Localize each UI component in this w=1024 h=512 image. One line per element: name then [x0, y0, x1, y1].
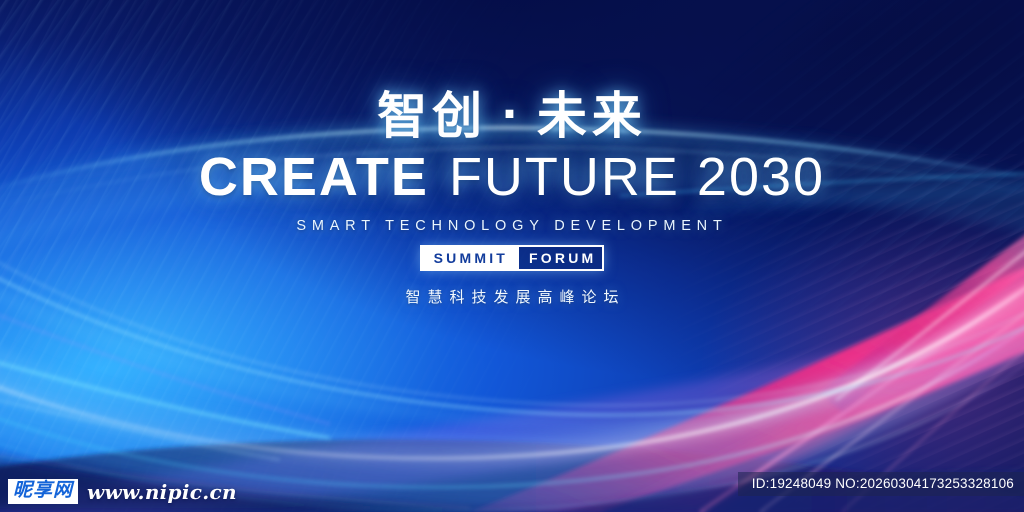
- headline-separator-dot: ·: [501, 90, 523, 139]
- chinese-headline-part2: 未来: [537, 87, 647, 145]
- poster-canvas: 智创·未来 CREATEFUTURE 2030 SMART TECHNOLOGY…: [0, 0, 1024, 512]
- chinese-headline: 智创·未来: [0, 88, 1024, 144]
- chinese-tagline: 智慧科技发展高峰论坛: [0, 286, 1024, 307]
- english-headline-bold: CREATE: [199, 147, 429, 207]
- nipic-logo: 昵享网: [8, 479, 78, 504]
- chinese-headline-part1: 智创: [377, 87, 487, 145]
- english-headline-light: FUTURE 2030: [449, 147, 825, 207]
- site-watermark: 昵享网 www.nipic.cn: [8, 479, 237, 504]
- english-headline: CREATEFUTURE 2030: [0, 150, 1024, 205]
- poster-text-block: 智创·未来 CREATEFUTURE 2030 SMART TECHNOLOGY…: [0, 88, 1024, 307]
- badge-summit-label: SUMMIT: [422, 247, 517, 269]
- badge-forum-label: FORUM: [517, 247, 602, 269]
- site-url-text: www.nipic.cn: [87, 480, 237, 504]
- summit-forum-badge: SUMMIT FORUM: [420, 245, 605, 271]
- summit-forum-badge-wrapper: SUMMIT FORUM: [0, 245, 1024, 271]
- image-id-watermark: ID:19248049 NO:20260304173253328106: [738, 472, 1024, 496]
- english-tagline: SMART TECHNOLOGY DEVELOPMENT: [0, 218, 1024, 234]
